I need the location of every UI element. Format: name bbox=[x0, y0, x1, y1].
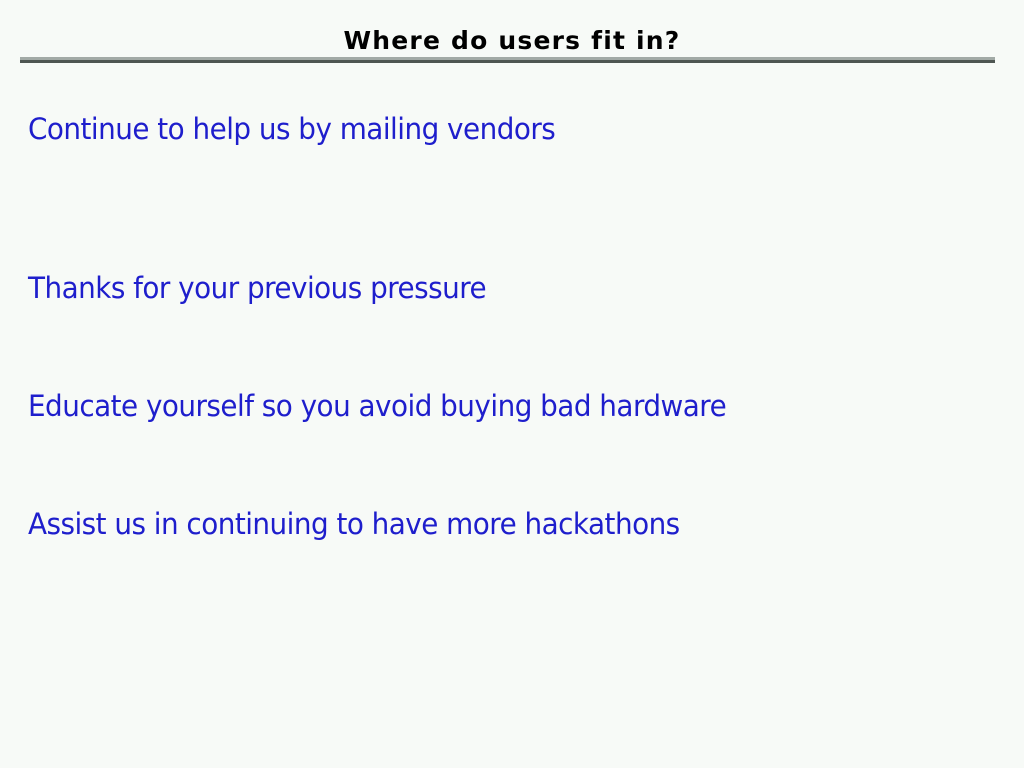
slide-bullet-line: Educate yourself so you avoid buying bad… bbox=[28, 389, 726, 423]
slide-bullet-line: Thanks for your previous pressure bbox=[28, 271, 486, 305]
presentation-slide: Where do users fit in? Continue to help … bbox=[0, 0, 1024, 768]
slide-bullet-line: Continue to help us by mailing vendors bbox=[28, 112, 555, 146]
slide-body: Continue to help us by mailing vendors T… bbox=[0, 0, 1024, 768]
slide-bullet-line: Assist us in continuing to have more hac… bbox=[28, 507, 680, 541]
